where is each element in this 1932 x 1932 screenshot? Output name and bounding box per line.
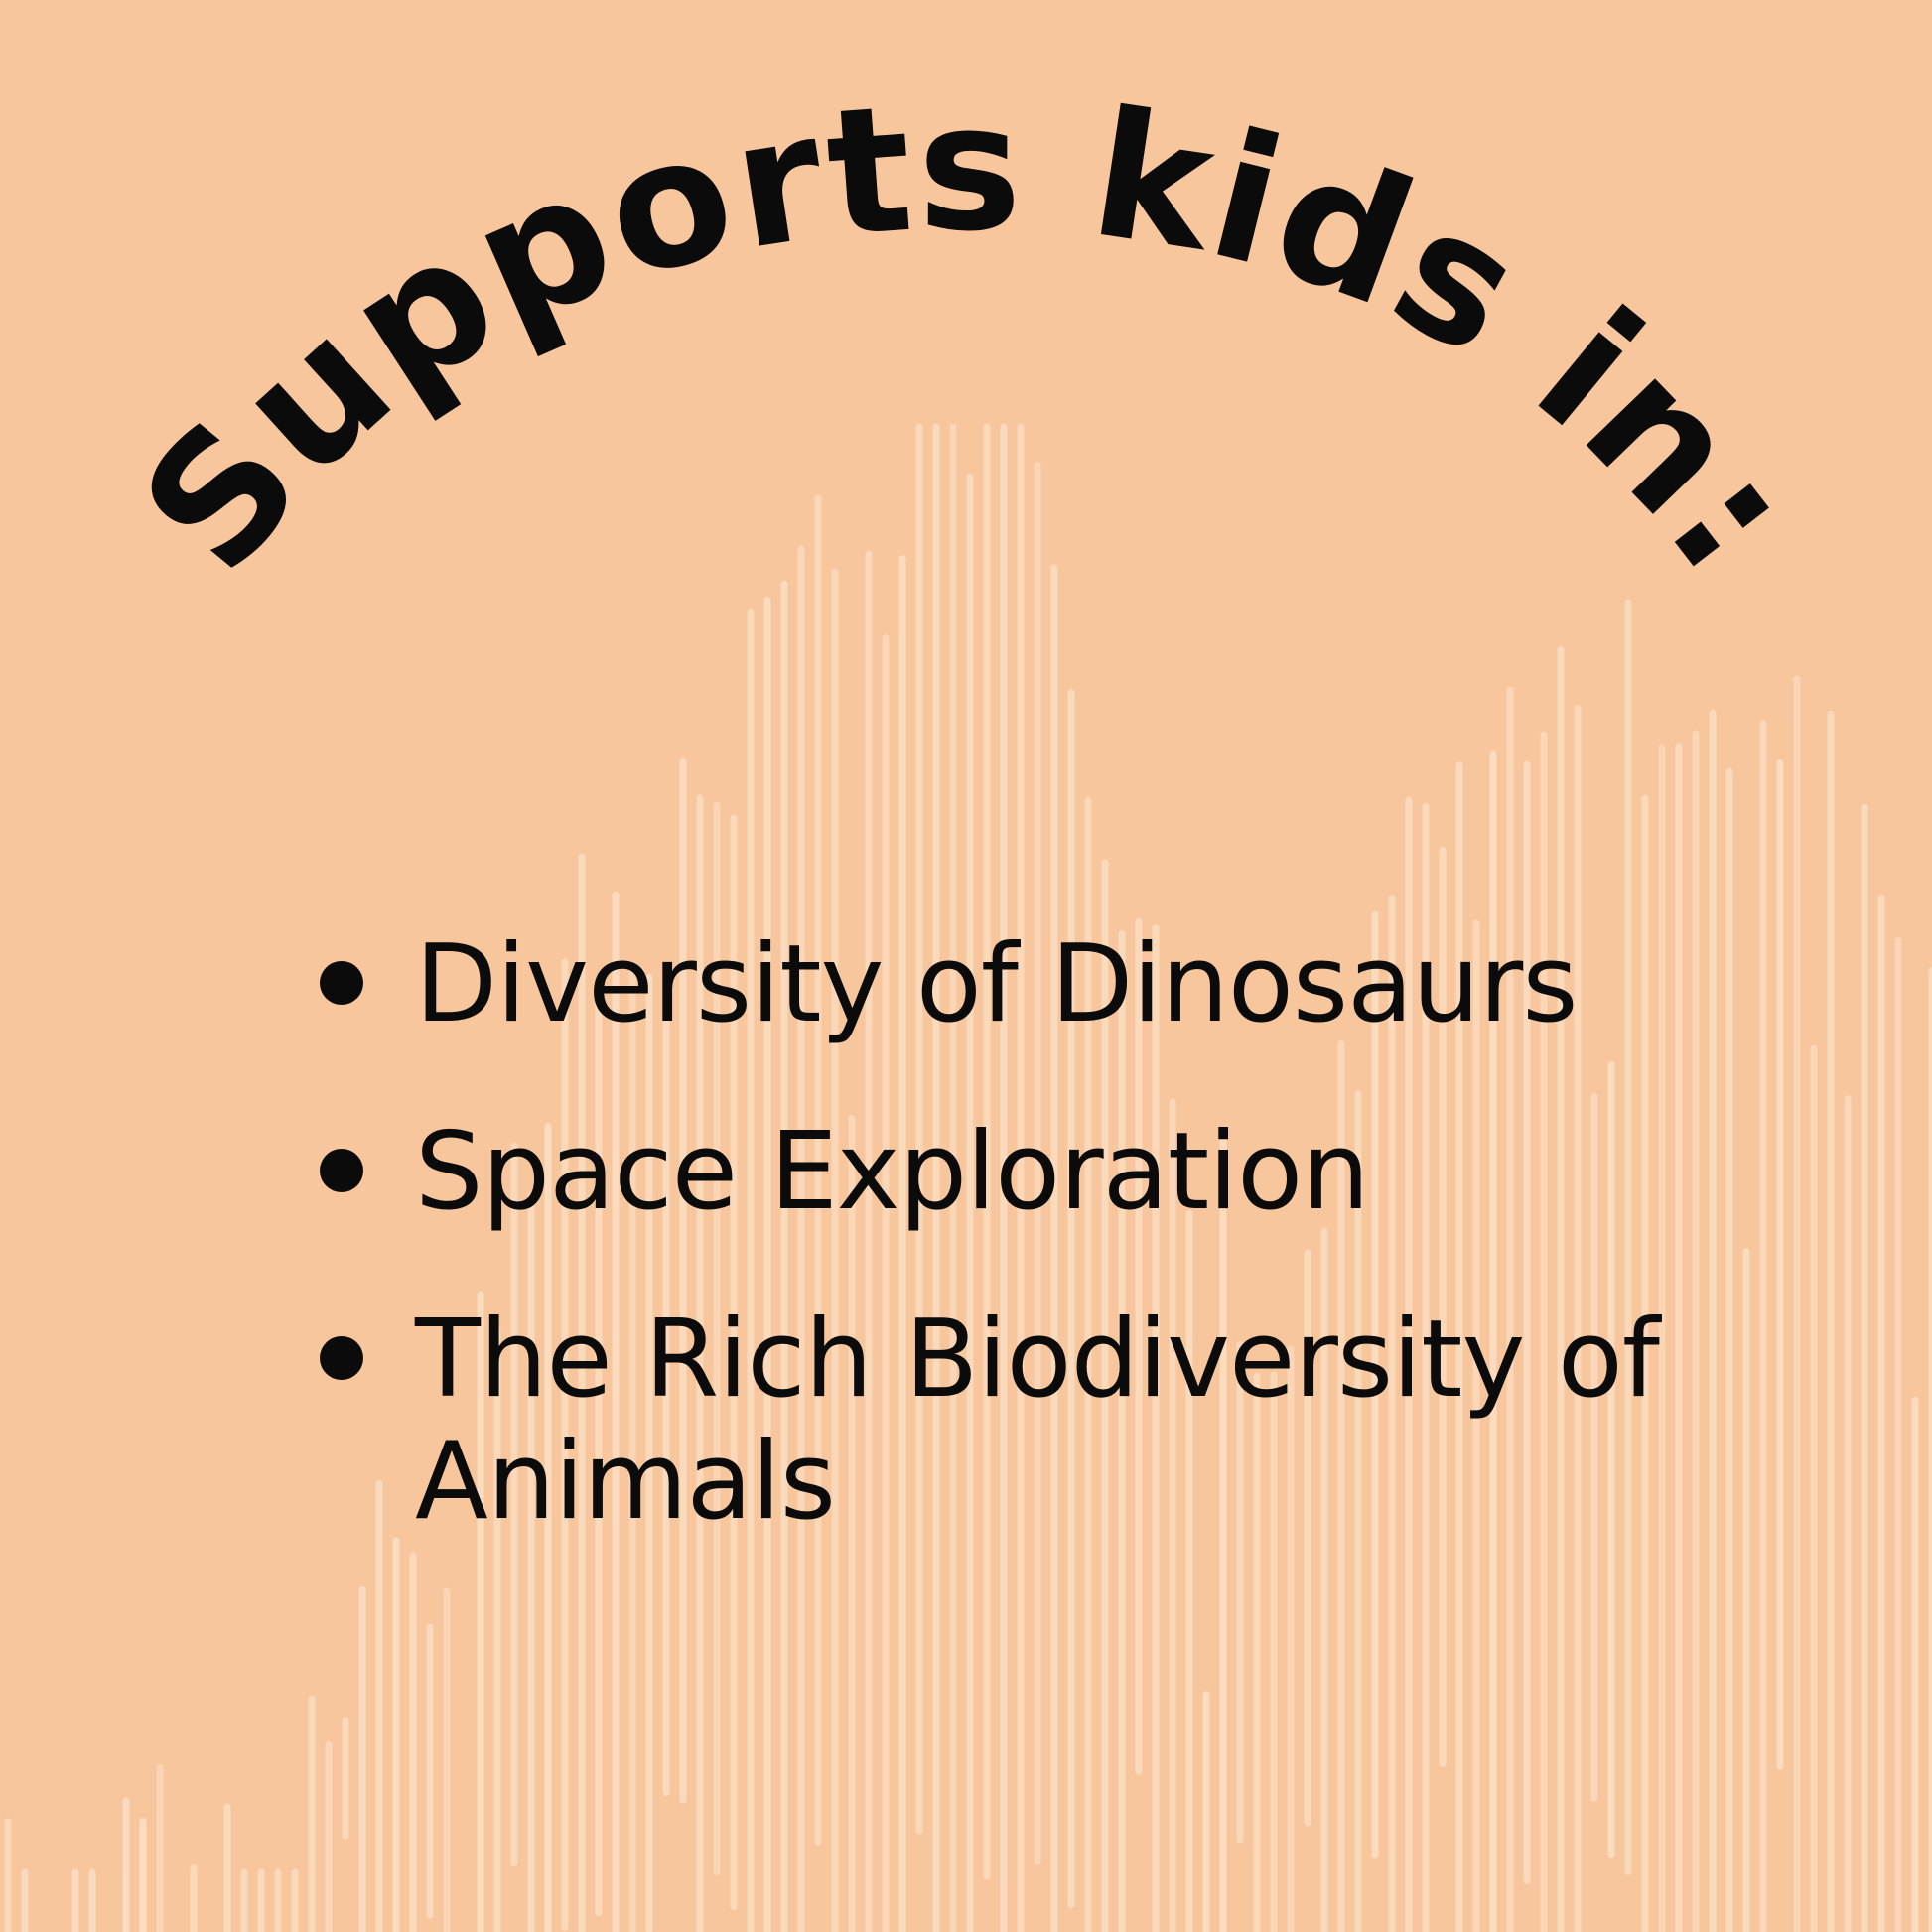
bullet-dot-icon [320, 1336, 363, 1380]
list-item: The Rich Biodiversity of Animals [320, 1299, 1789, 1543]
list-item: Diversity of Dinosaurs [320, 923, 1789, 1045]
poster-canvas: Supports kids in: Diversity of Dinosaurs… [0, 0, 1932, 1932]
list-item-label: Diversity of Dinosaurs [415, 923, 1789, 1045]
bullet-dot-icon [320, 961, 363, 1005]
list-item: Space Exploration [320, 1111, 1789, 1233]
feature-list: Diversity of Dinosaurs Space Exploration… [320, 923, 1789, 1543]
bullet-dot-icon [320, 1149, 363, 1192]
page-title: Supports kids in: [0, 119, 1932, 635]
list-item-label: The Rich Biodiversity of Animals [415, 1299, 1789, 1543]
title-text: Supports kids in: [103, 67, 1835, 609]
list-item-label: Space Exploration [415, 1111, 1789, 1233]
arched-title-svg: Supports kids in: [0, 119, 1932, 635]
